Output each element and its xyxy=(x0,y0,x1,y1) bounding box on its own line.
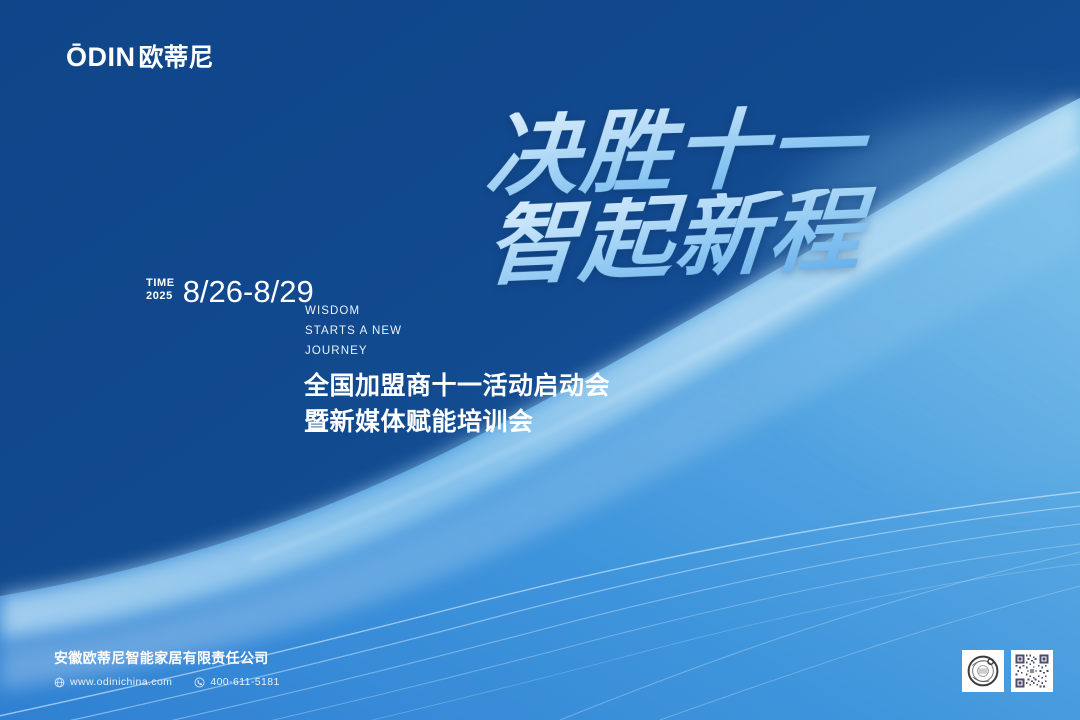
footer-block: 安徽欧蒂尼智能家居有限责任公司 www.odinichina.com 400-6… xyxy=(54,650,280,688)
event-subtitle: 全国加盟商十一活动启动会 暨新媒体赋能培训会 xyxy=(304,368,610,439)
brand-logo-latin: ŌDIN xyxy=(66,44,136,71)
event-subtitle-line-2: 暨新媒体赋能培训会 xyxy=(304,404,610,440)
event-subtitle-line-1: 全国加盟商十一活动启动会 xyxy=(304,368,610,404)
tagline-line-3: JOURNEY xyxy=(305,342,402,362)
footer-website-text: www.odinichina.com xyxy=(70,676,172,688)
globe-icon xyxy=(54,677,65,688)
footer-website[interactable]: www.odinichina.com xyxy=(54,676,172,688)
hero-title: 决胜十一 智起新程 xyxy=(440,108,910,279)
code-badges xyxy=(962,650,1053,692)
poster-canvas: ŌDIN 欧蒂尼 决胜十一 智起新程 TIME 2025 8/26-8/29 W… xyxy=(0,0,1080,720)
time-label-stack: TIME 2025 xyxy=(146,277,175,305)
footer-phone-text: 400-611-5181 xyxy=(210,676,279,688)
footer-phone[interactable]: 400-611-5181 xyxy=(194,676,279,688)
hero-title-line-2: 智起新程 xyxy=(436,185,915,289)
company-seal-icon xyxy=(965,653,1001,689)
company-seal-badge[interactable] xyxy=(962,650,1004,692)
brand-logo-chinese: 欧蒂尼 xyxy=(139,45,214,70)
event-date-range: 8/26-8/29 xyxy=(183,276,314,307)
footer-company-name: 安徽欧蒂尼智能家居有限责任公司 xyxy=(54,650,280,670)
time-label: TIME xyxy=(146,277,175,290)
event-date-row: TIME 2025 8/26-8/29 xyxy=(146,276,314,307)
footer-contact-row: www.odinichina.com 400-611-5181 xyxy=(54,676,280,688)
tagline-line-1: WISDOM xyxy=(305,302,402,322)
event-tagline: WISDOM STARTS A NEW JOURNEY xyxy=(305,302,402,361)
event-year: 2025 xyxy=(146,290,175,303)
phone-icon xyxy=(194,677,205,688)
qr-code-badge[interactable] xyxy=(1011,650,1053,692)
brand-logo: ŌDIN 欧蒂尼 xyxy=(66,44,214,71)
tagline-line-2: STARTS A NEW xyxy=(305,322,402,342)
qr-code-icon xyxy=(1014,653,1050,689)
